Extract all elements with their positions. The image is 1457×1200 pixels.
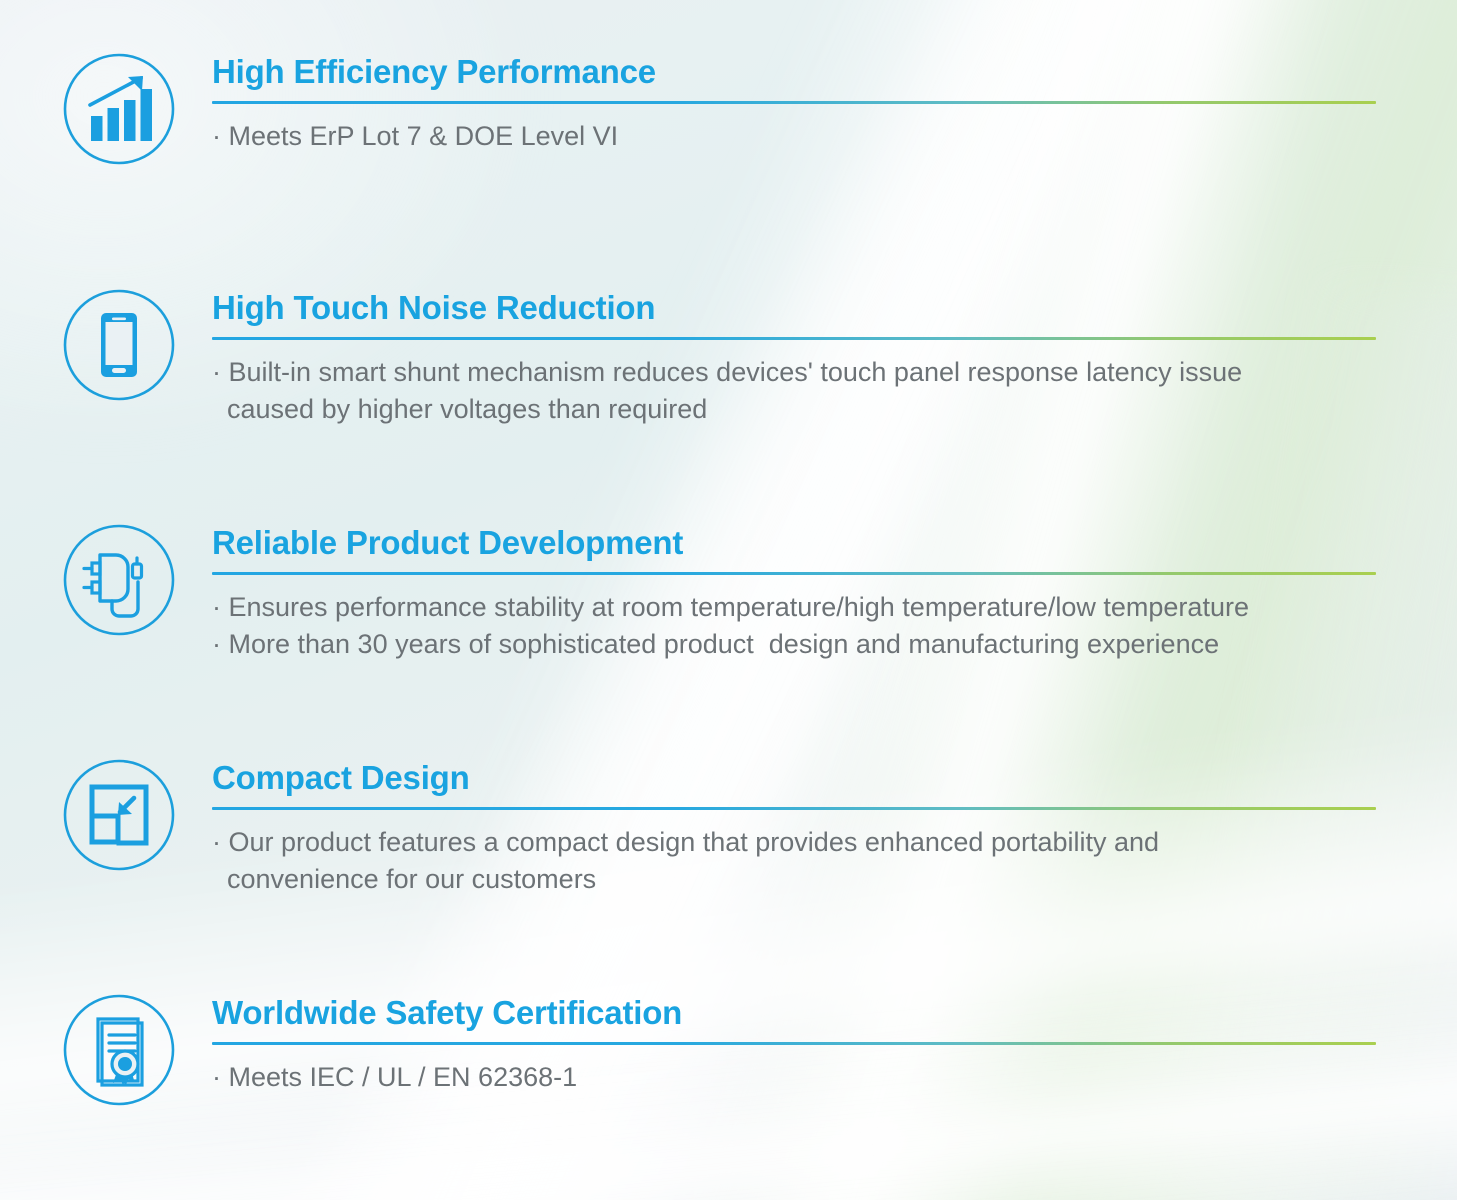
feature-divider xyxy=(212,572,1376,575)
feature-divider xyxy=(212,807,1376,810)
feature-bullet-line-cont: convenience for our customers xyxy=(212,861,1376,898)
feature-description: · Meets ErP Lot 7 & DOE Level VI xyxy=(212,118,1376,155)
feature-title: Worldwide Safety Certification xyxy=(212,993,1376,1033)
feature-description: · Meets IEC / UL / EN 62368-1 xyxy=(212,1059,1376,1096)
feature-highlights-page: High Efficiency Performance · Meets ErP … xyxy=(0,0,1457,1200)
feature-bullet-line: · Our product features a compact design … xyxy=(212,824,1376,861)
feature-description: · Ensures performance stability at room … xyxy=(212,589,1376,663)
feature-content: High Efficiency Performance · Meets ErP … xyxy=(212,52,1376,155)
feature-divider xyxy=(212,337,1376,340)
feature-bullet-line: · Ensures performance stability at room … xyxy=(212,589,1376,626)
feature-bullet-line-2: · More than 30 years of sophisticated pr… xyxy=(212,626,1376,663)
resize-shrink-icon xyxy=(62,758,176,872)
feature-content: High Touch Noise Reduction · Built-in sm… xyxy=(212,288,1376,428)
feature-title: High Touch Noise Reduction xyxy=(212,288,1376,328)
feature-bullet-line: · Meets IEC / UL / EN 62368-1 xyxy=(212,1059,1376,1096)
bar-chart-growth-icon xyxy=(62,52,176,166)
feature-bullet-line-cont: caused by higher voltages than required xyxy=(212,391,1376,428)
feature-divider xyxy=(212,1042,1376,1045)
feature-content: Reliable Product Development · Ensures p… xyxy=(212,523,1376,663)
feature-title: Compact Design xyxy=(212,758,1376,798)
feature-description: · Our product features a compact design … xyxy=(212,824,1376,898)
certificate-award-icon xyxy=(62,993,176,1107)
feature-description: · Built-in smart shunt mechanism reduces… xyxy=(212,354,1376,428)
feature-title: High Efficiency Performance xyxy=(212,52,1376,92)
feature-content: Worldwide Safety Certification · Meets I… xyxy=(212,993,1376,1096)
feature-bullet-line: · Built-in smart shunt mechanism reduces… xyxy=(212,354,1376,391)
feature-divider xyxy=(212,101,1376,104)
smartphone-icon xyxy=(62,288,176,402)
feature-title: Reliable Product Development xyxy=(212,523,1376,563)
feature-bullet-line: · Meets ErP Lot 7 & DOE Level VI xyxy=(212,118,1376,155)
feature-content: Compact Design · Our product features a … xyxy=(212,758,1376,898)
power-adapter-icon xyxy=(62,523,176,637)
